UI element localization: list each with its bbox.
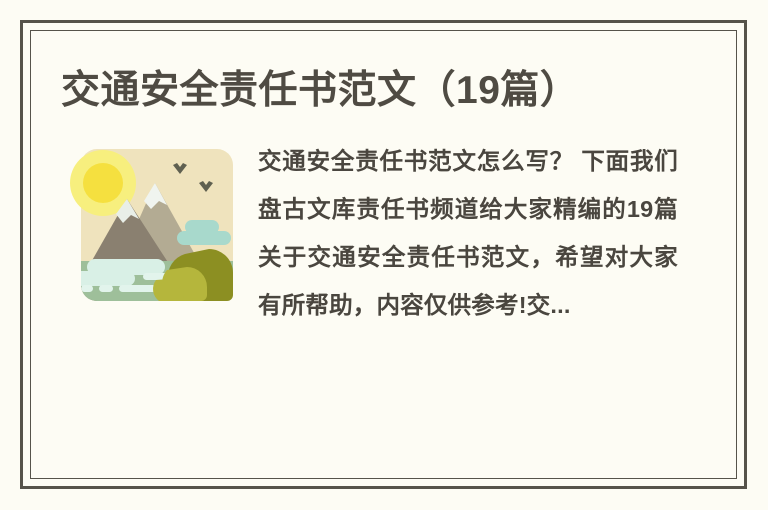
article-title: 交通安全责任书范文（19篇） <box>61 69 579 113</box>
article-card-page: 交通安全责任书范文（19篇） <box>0 0 768 510</box>
inner-border-frame: 交通安全责任书范文（19篇） <box>30 30 737 479</box>
article-excerpt: 交通安全责任书范文怎么写？ 下面我们盘古文库责任书频道给大家精编的19篇关于交通… <box>258 137 678 329</box>
article-content-row: 交通安全责任书范文怎么写？ 下面我们盘古文库责任书频道给大家精编的19篇关于交通… <box>59 137 706 329</box>
article-thumbnail[interactable] <box>59 141 241 323</box>
outer-border-frame: 交通安全责任书范文（19篇） <box>20 20 747 489</box>
mountain-landscape-illustration <box>59 141 241 323</box>
